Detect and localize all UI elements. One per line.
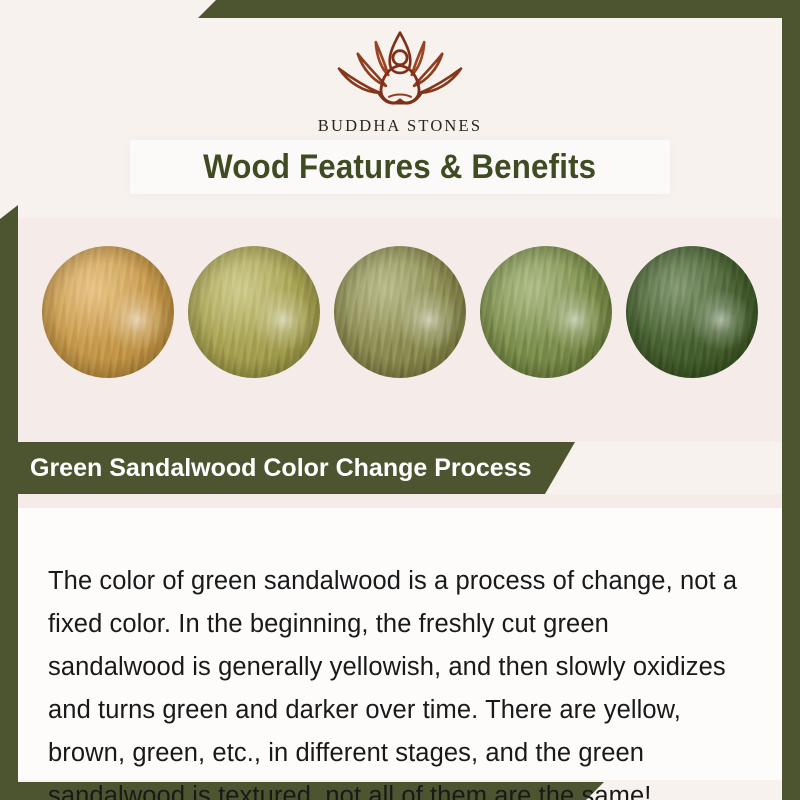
frame-band-right bbox=[782, 0, 800, 800]
poster-root: BUDDHA STONES Wood Features & Benefits G… bbox=[0, 0, 800, 800]
bead-stage-3-olive bbox=[334, 246, 466, 378]
bead-stage-4-green bbox=[480, 246, 612, 378]
title-plaque: Wood Features & Benefits bbox=[130, 140, 670, 194]
body-paragraph: The color of green sandalwood is a proce… bbox=[48, 560, 752, 800]
page-title: Wood Features & Benefits bbox=[203, 148, 596, 187]
bead-stage-2-yellow-green bbox=[188, 246, 320, 378]
frame-band-top bbox=[0, 0, 800, 18]
section-heading: Green Sandalwood Color Change Process bbox=[30, 454, 532, 483]
banner-gap-strip bbox=[18, 494, 782, 508]
brand-name: BUDDHA STONES bbox=[318, 116, 482, 136]
lotus-meditation-icon bbox=[320, 28, 480, 114]
body-card: The color of green sandalwood is a proce… bbox=[18, 508, 782, 780]
bead-stage-5-dark-green bbox=[626, 246, 758, 378]
bead-showcase-panel bbox=[18, 218, 782, 442]
brand-logo: BUDDHA STONES bbox=[18, 28, 782, 136]
bead-row bbox=[18, 246, 782, 378]
bead-stage-1-yellow bbox=[42, 246, 174, 378]
section-banner: Green Sandalwood Color Change Process bbox=[0, 442, 575, 494]
frame-band-left bbox=[0, 205, 18, 800]
